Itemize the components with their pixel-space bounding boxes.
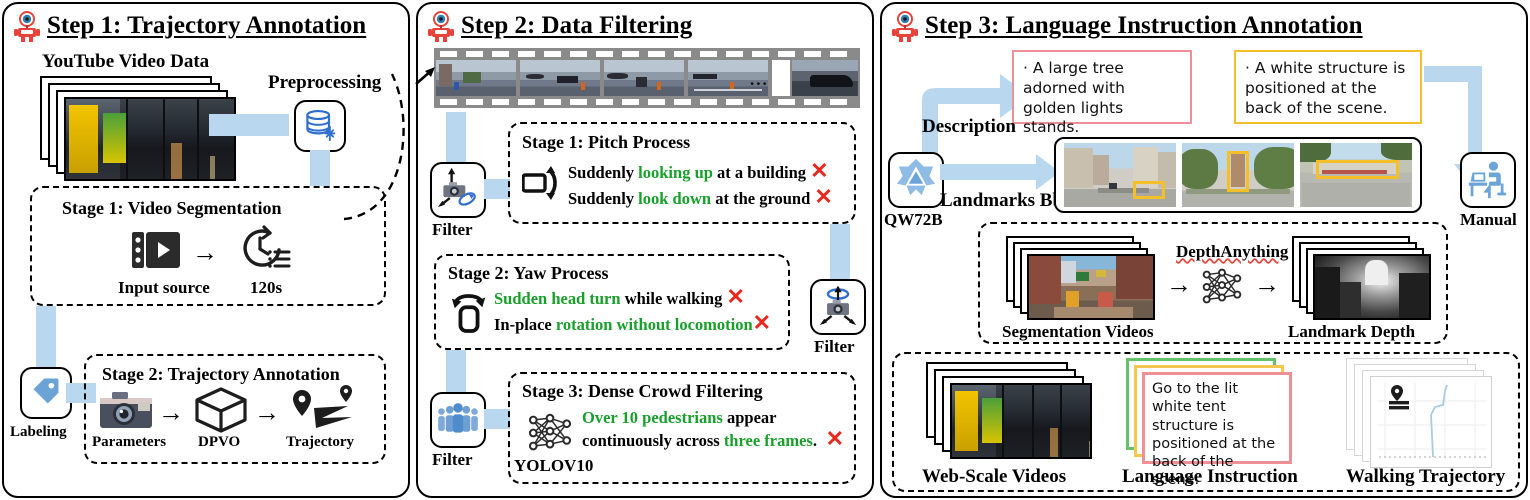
pitch-line-2: Suddenly look down at the ground ✕ [568, 186, 852, 209]
connector-source-to-preprocessing [209, 114, 289, 136]
neural-network-icon [524, 410, 576, 461]
yaw-filter-icon-box[interactable] [810, 279, 866, 335]
duration-label: 120s [250, 278, 282, 298]
qw72b-icon-box[interactable] [888, 152, 944, 208]
yaw-line-2: In-place rotation without locomotion✕ [494, 312, 788, 335]
pitch-camera-icon [437, 167, 479, 214]
description-text-yellow: · A white structure is positioned at the… [1245, 59, 1411, 118]
step3-panel: Step 3: Language Instruction Annotation … [880, 2, 1528, 498]
description-box-red: · A large tree adorned with golden light… [1012, 50, 1192, 124]
reject-mark: ✕ [826, 428, 844, 450]
crowd-line-1-post: appear [723, 408, 777, 427]
outputs-box: Web-Scale Videos Go to the lit white ten… [892, 352, 1520, 492]
labeling-icon-box[interactable] [20, 367, 72, 419]
pitch-filter-icon-box[interactable] [430, 162, 486, 218]
step3-title: Step 3: Language Instruction Annotation [925, 12, 1363, 40]
description-label: Description [922, 116, 1016, 138]
crowd-people-icon [436, 402, 480, 439]
connector-stage1-to-filter2 [830, 224, 850, 280]
pitch-line-2-pre: Suddenly [568, 189, 638, 208]
crowd-line-2-hl: three frames [724, 431, 813, 450]
step2-stage3-title: Stage 3: Dense Crowd Filtering [522, 381, 763, 402]
landmark-images-group [1054, 137, 1422, 213]
walking-trajectory-label: Walking Trajectory [1346, 466, 1505, 488]
landmark-depth-stack [1292, 236, 1442, 322]
reject-mark: ✕ [726, 284, 744, 309]
bounding-box [1316, 160, 1399, 179]
incoming-arrow-icon [416, 62, 444, 92]
reject-mark: ✕ [814, 184, 832, 209]
robot-icon [14, 10, 40, 42]
cube-icon [194, 386, 248, 439]
language-instruction-stack: Go to the lit white tent structure is po… [1126, 358, 1314, 464]
filmstrip-frame [792, 60, 858, 96]
yaw-line-1: Sudden head turn while walking ✕ [494, 286, 788, 309]
stage2-arrow-2: → [254, 400, 280, 426]
step3-header: Step 3: Language Instruction Annotation [892, 10, 1363, 42]
step1-panel: Step 1: Trajectory Annotation YouTube Vi… [2, 2, 410, 498]
bounding-box [1133, 181, 1164, 199]
pitch-line-1-pre: Suddenly [568, 163, 638, 182]
crowd-line-2-pre: continuously across [582, 431, 724, 450]
web-scale-video-stack [926, 362, 1106, 466]
manual-label: Manual [1460, 210, 1517, 230]
robot-icon [428, 10, 454, 42]
step1-stage1-box: Stage 1: Video Segmentation → Inp [30, 186, 386, 306]
camera-icon [98, 390, 154, 437]
crowd-line-1: Over 10 pedestrians appear [582, 408, 852, 428]
qw72b-label: QW72B [884, 210, 943, 230]
tag-icon [30, 375, 62, 412]
reject-mark: ✕ [753, 310, 771, 335]
trajectory-plot [1371, 377, 1491, 467]
input-source-label: Input source [118, 278, 210, 298]
filmstrip-frame [436, 60, 516, 96]
yolo-model-label: YOLOV10 [514, 456, 593, 476]
step1-stage1-title: Stage 1: Video Segmentation [62, 198, 282, 219]
dpvo-label: DPVO [198, 434, 240, 451]
landmark-image [1182, 143, 1294, 207]
connector-filter1-to-stage1 [484, 179, 510, 199]
filmstrip: ... [434, 48, 860, 108]
step2-stage2-box: Stage 2: Yaw Process Sudden head turn wh… [434, 254, 790, 350]
parameters-label: Parameters [92, 434, 166, 451]
landmark-depth-label: Landmark Depth [1288, 322, 1415, 342]
trajectory-icon [286, 384, 358, 437]
bounding-box [1227, 151, 1249, 192]
description-box-yellow: · A white structure is positioned at the… [1234, 50, 1422, 124]
yaw-camera-icon [817, 284, 859, 331]
connector-preprocessing-to-stage1 [310, 150, 330, 186]
connector-filter3-to-stage3 [484, 409, 510, 429]
step1-title: Step 1: Trajectory Annotation [47, 12, 366, 40]
filter-label-crowd: Filter [432, 450, 473, 470]
crowd-filter-icon-box[interactable] [430, 392, 486, 448]
step2-stage3-box: Stage 3: Dense Crowd Filtering YOLOV [508, 372, 856, 484]
pitch-line-1-hl: looking up [638, 163, 713, 182]
depth-network-icon [1198, 266, 1246, 313]
filmstrip-frame [520, 60, 600, 96]
pitch-arrow-camera-icon [522, 164, 566, 209]
step2-stage1-title: Stage 1: Pitch Process [522, 132, 690, 153]
database-icon [302, 106, 338, 147]
depthanything-label: DepthAnything [1176, 242, 1288, 262]
pitch-line-2-hl: look down [638, 189, 711, 208]
landmark-image [1300, 143, 1412, 207]
depth-estimation-box: Segmentation Videos DepthAnything → [978, 222, 1448, 344]
reject-mark: ✕ [810, 158, 828, 183]
filmstrip-ellipsis: ... [750, 70, 769, 90]
filter-label-pitch: Filter [432, 220, 473, 240]
web-scale-videos-label: Web-Scale Videos [922, 466, 1066, 488]
yaw-line-2-pre: In-place [494, 315, 556, 334]
clock-list-icon [237, 224, 293, 277]
step2-title: Step 2: Data Filtering [461, 12, 692, 40]
filmstrip-gap [772, 60, 790, 96]
connector-strip-to-filter1 [446, 112, 466, 164]
step2-stage2-title: Stage 2: Yaw Process [448, 263, 608, 284]
step1-stage2-box: Stage 2: Trajectory Annotation → → [84, 354, 386, 464]
pitch-line-1: Suddenly looking up at a building ✕ [568, 160, 852, 183]
walking-trajectory-stack [1346, 358, 1518, 464]
landmark-image [1064, 143, 1176, 207]
pitch-line-1-post: at a building [713, 163, 806, 182]
step2-stage1-box: Stage 1: Pitch Process Suddenly looking … [508, 122, 856, 224]
yaw-rotation-icon [450, 290, 488, 339]
yaw-line-1-post: while walking [621, 289, 723, 308]
crowd-line-1-hl: Over 10 pedestrians [582, 408, 723, 427]
depth-arrow-2: → [1254, 272, 1280, 298]
pitch-line-2-post: at the ground [711, 189, 810, 208]
manual-icon-box[interactable] [1460, 152, 1516, 208]
connector-stage1-to-labeling [36, 306, 56, 368]
segmentation-videos-label: Segmentation Videos [1002, 322, 1154, 342]
stage1-arrow: → [192, 240, 218, 266]
crowd-line-2: continuously across three frames. [582, 431, 852, 451]
filmstrip-frame [604, 60, 684, 96]
segmentation-video-stack [1006, 236, 1166, 322]
step1-header: Step 1: Trajectory Annotation [14, 10, 366, 42]
robot-icon [892, 10, 918, 42]
labeling-label: Labeling [10, 424, 67, 441]
stage2-arrow-1: → [158, 400, 184, 426]
step2-panel: Step 2: Data Filtering [416, 2, 874, 498]
yaw-line-1-hl: Sudden head turn [494, 289, 621, 308]
step2-header: Step 2: Data Filtering [428, 10, 692, 42]
qwen-logo-icon [895, 157, 937, 204]
step1-stage2-title: Stage 2: Trajectory Annotation [102, 364, 340, 385]
description-text-red: · A large tree adorned with golden light… [1023, 59, 1181, 138]
depth-arrow-1: → [1166, 272, 1192, 298]
connector-stage2-to-filter3 [446, 350, 466, 396]
crowd-line-2-post: . [813, 431, 817, 450]
yaw-line-2-hl: rotation without locomotion [556, 315, 753, 334]
person-at-desk-icon [1467, 157, 1509, 204]
language-instruction-label: Language Instruction [1122, 466, 1298, 488]
input-source-icon [130, 228, 182, 277]
trajectory-label: Trajectory [286, 434, 354, 451]
youtube-source-label: YouTube Video Data [42, 51, 209, 73]
filter-label-yaw: Filter [814, 337, 855, 357]
